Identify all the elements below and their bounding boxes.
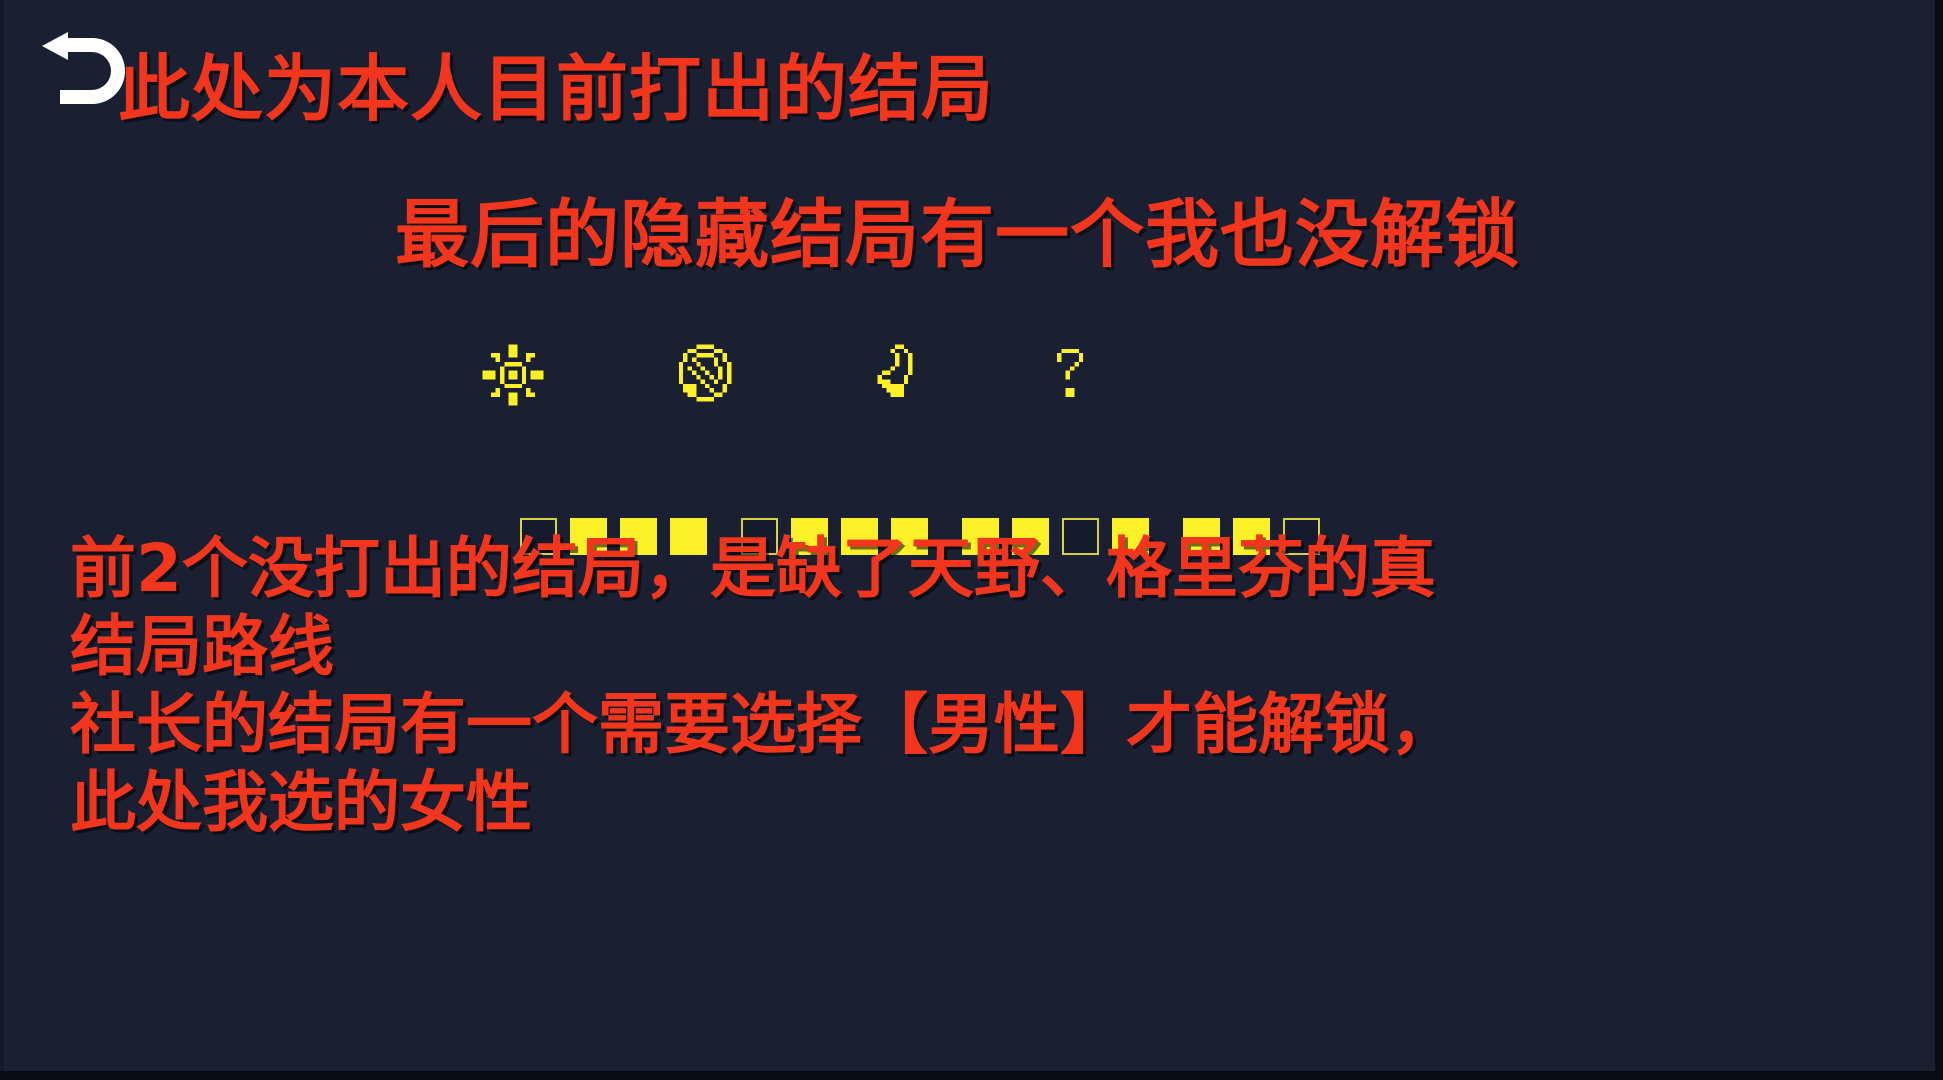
annotation-block-line: 结局路线	[70, 608, 1570, 686]
back-arrow-icon[interactable]	[30, 18, 130, 118]
question-mark-icon	[1035, 340, 1105, 410]
annotation-block-line: 社长的结局有一个需要选择【男性】才能解锁，	[70, 686, 1570, 764]
moon-icon	[860, 340, 930, 410]
screen-frame-bottom	[0, 1071, 1943, 1080]
annotation-block-line: 此处我选的女性	[70, 764, 1570, 842]
annotation-block-line: 前2个没打出的结局，是缺了天野、格里芬的真	[70, 530, 1570, 608]
partly-cloudy-icon	[670, 340, 740, 410]
annotation-line-1: 此处为本人目前打出的结局	[118, 30, 994, 135]
screen-frame-right	[1935, 0, 1943, 1080]
screen-frame-left	[0, 0, 4, 1080]
sun-icon	[478, 340, 548, 410]
annotation-line-2: 最后的隐藏结局有一个我也没解锁	[395, 175, 1520, 282]
annotation-block: 前2个没打出的结局，是缺了天野、格里芬的真 结局路线 社长的结局有一个需要选择【…	[70, 530, 1570, 842]
ending-category-icon-row	[430, 340, 1390, 420]
game-ending-gallery-screen: 此处为本人目前打出的结局 最后的隐藏结局有一个我也没解锁	[0, 0, 1943, 1080]
